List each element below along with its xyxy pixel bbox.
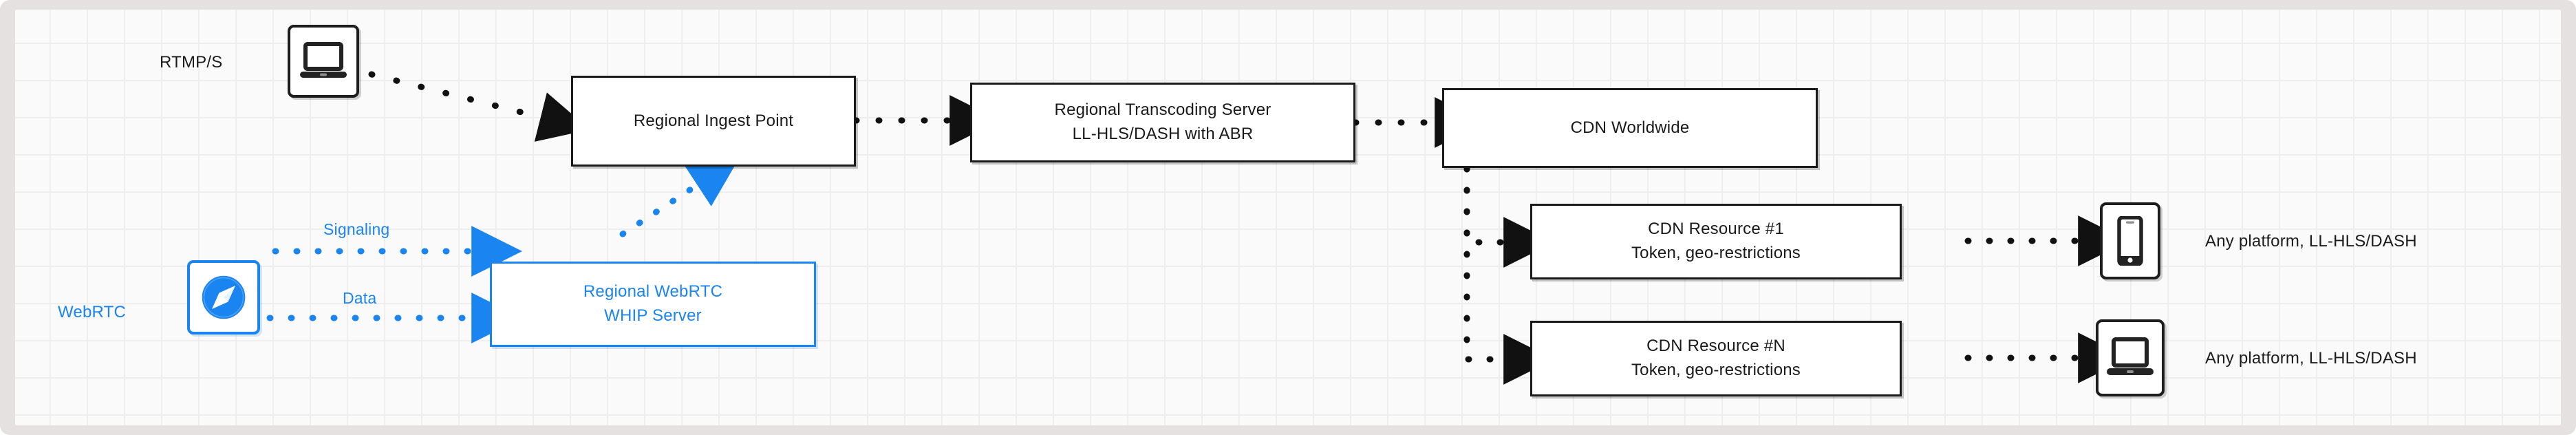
node-regional-transcoding-server[interactable]: Regional Transcoding Server LL-HLS/DASH … xyxy=(970,83,1355,162)
laptop-icon xyxy=(299,41,348,81)
node-cdn-resource-1-line1: CDN Resource #1 xyxy=(1648,217,1784,242)
node-regional-ingest-point[interactable]: Regional Ingest Point xyxy=(571,76,856,167)
node-cdn-resource-1-line2: Token, geo-restrictions xyxy=(1631,242,1801,266)
node-whip-line1: Regional WebRTC xyxy=(583,280,722,304)
node-cdn-resource-n-line2: Token, geo-restrictions xyxy=(1631,359,1801,383)
node-cdn-resource-1[interactable]: CDN Resource #1 Token, geo-restrictions xyxy=(1530,204,1902,279)
rtmp-laptop-device[interactable] xyxy=(288,25,359,98)
node-transcoder-line2: LL-HLS/DASH with ABR xyxy=(1073,123,1254,147)
endpoint-smartphone-label: Any platform, LL-HLS/DASH xyxy=(2205,232,2417,251)
laptop-icon xyxy=(2105,337,2155,379)
edge-cdn-to-resource-n xyxy=(1467,169,1517,359)
node-transcoder-line1: Regional Transcoding Server xyxy=(1055,98,1271,123)
node-cdn-worldwide-line1: CDN Worldwide xyxy=(1571,116,1690,140)
node-regional-ingest-point-line1: Regional Ingest Point xyxy=(634,109,793,134)
endpoint-smartphone-device[interactable] xyxy=(2100,202,2160,279)
edge-rtmp-to-ingest xyxy=(372,74,554,120)
webrtc-browser-device[interactable] xyxy=(187,260,260,335)
edge-label-signaling: Signaling xyxy=(323,220,389,239)
edge-label-data: Data xyxy=(343,289,376,308)
webrtc-source-label: WebRTC xyxy=(58,303,126,322)
node-whip-line2: WHIP Server xyxy=(604,304,702,328)
node-cdn-resource-n-line1: CDN Resource #N xyxy=(1646,335,1785,359)
rtmp-source-label: RTMP/S xyxy=(160,53,222,72)
diagram-canvas-frame: RTMP/S Regional Ingest Point Regional Tr… xyxy=(0,0,2576,435)
node-regional-webrtc-whip-server[interactable]: Regional WebRTC WHIP Server xyxy=(490,262,816,347)
safari-compass-icon xyxy=(197,270,250,324)
endpoint-laptop-label: Any platform, LL-HLS/DASH xyxy=(2205,349,2417,368)
edge-cdn-to-resource-1 xyxy=(1467,169,1517,242)
smartphone-icon xyxy=(2116,216,2144,266)
node-cdn-resource-n[interactable]: CDN Resource #N Token, geo-restrictions xyxy=(1530,321,1902,396)
node-cdn-worldwide[interactable]: CDN Worldwide xyxy=(1442,88,1818,168)
endpoint-laptop-device[interactable] xyxy=(2096,319,2165,396)
edge-whip-to-ingest xyxy=(623,178,709,234)
connector-layer xyxy=(0,0,2576,435)
